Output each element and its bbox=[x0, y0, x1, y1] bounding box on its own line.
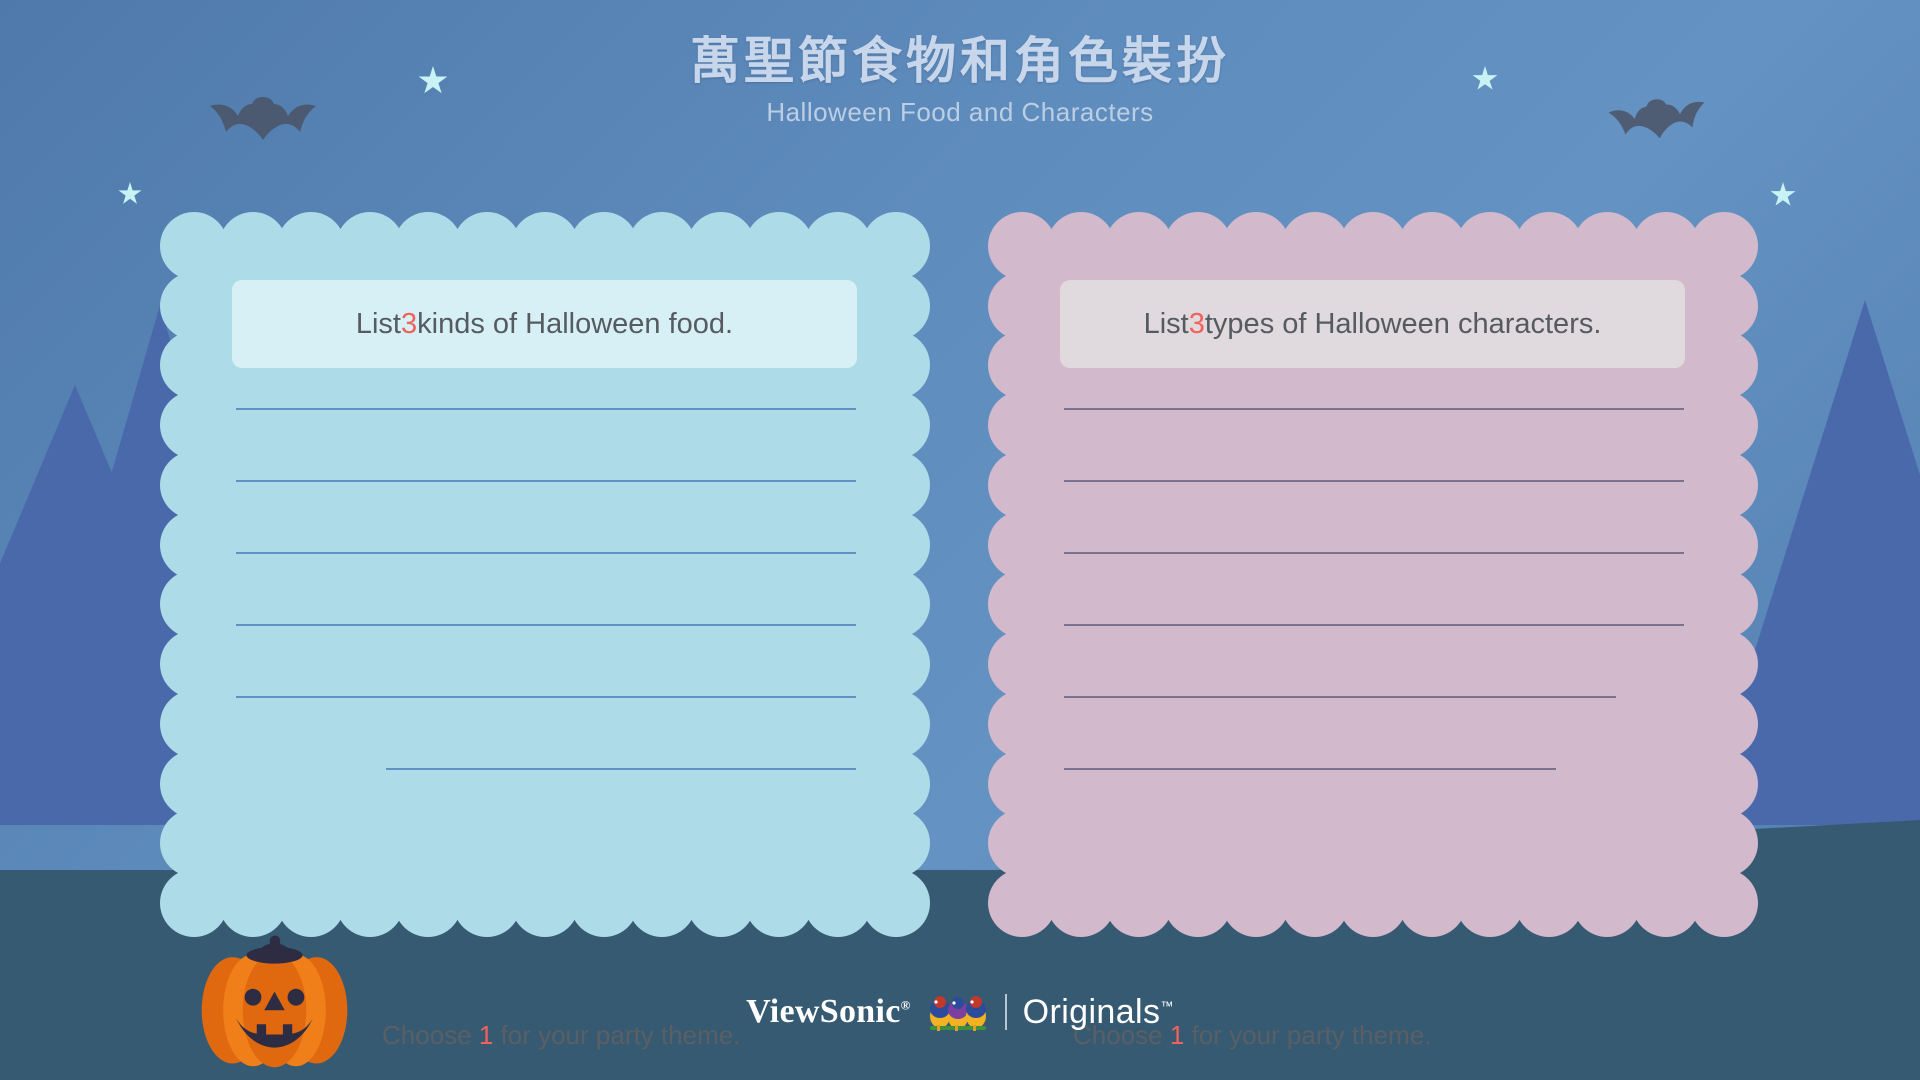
scallop-bump bbox=[277, 869, 345, 937]
scallop-bump bbox=[628, 212, 696, 280]
scallop-bump bbox=[1690, 809, 1758, 877]
scallop-bump bbox=[1690, 391, 1758, 459]
scallop-bump bbox=[1339, 212, 1407, 280]
scallop-bump bbox=[988, 272, 1056, 340]
scallop-bump bbox=[394, 212, 462, 280]
scallop-bump bbox=[628, 869, 696, 937]
scallop-bump bbox=[988, 331, 1056, 399]
prompt-prefix: List bbox=[356, 308, 401, 341]
scallop-bump bbox=[745, 212, 813, 280]
worksheet-card-food: List 3 kinds of Halloween food. Choose 1… bbox=[160, 212, 930, 937]
scallop-bump bbox=[1105, 869, 1173, 937]
scallop-bump bbox=[1690, 212, 1758, 280]
scallop-bump bbox=[1456, 869, 1524, 937]
scallop-bump bbox=[745, 869, 813, 937]
scallop-bump bbox=[862, 690, 930, 758]
scallop-bump bbox=[988, 750, 1056, 818]
scallop-bump bbox=[1339, 869, 1407, 937]
scallop-bump bbox=[862, 630, 930, 698]
trademark-mark: ™ bbox=[1160, 998, 1173, 1013]
scallop-bump bbox=[862, 869, 930, 937]
answer-line[interactable] bbox=[236, 480, 856, 482]
scallop-bump bbox=[1105, 212, 1173, 280]
worksheet-canvas: 萬聖節食物和角色裝扮 Halloween Food and Characters… bbox=[0, 0, 1920, 1080]
scallop-bump bbox=[277, 212, 345, 280]
prompt-prefix: List bbox=[1144, 308, 1189, 341]
prompt-number: 3 bbox=[1189, 308, 1205, 341]
scallop-bump bbox=[1690, 869, 1758, 937]
scallop-bump bbox=[394, 869, 462, 937]
page-subtitle-english: Halloween Food and Characters bbox=[0, 97, 1920, 128]
scallop-bump bbox=[862, 809, 930, 877]
scallop-bump bbox=[1222, 869, 1290, 937]
scallop-bump bbox=[1690, 570, 1758, 638]
scallop-bump bbox=[1690, 451, 1758, 519]
viewsonic-text: ViewSonic bbox=[746, 993, 900, 1030]
prompt-box-food: List 3 kinds of Halloween food. bbox=[232, 280, 857, 368]
scallop-bump bbox=[862, 212, 930, 280]
scallop-bump bbox=[862, 331, 930, 399]
scallop-bump bbox=[862, 750, 930, 818]
answer-line[interactable] bbox=[1064, 408, 1684, 410]
answer-line[interactable] bbox=[236, 624, 856, 626]
scallop-bump bbox=[862, 391, 930, 459]
scallop-bump bbox=[988, 809, 1056, 877]
answer-line[interactable] bbox=[1064, 480, 1684, 482]
scallop-bump bbox=[1690, 272, 1758, 340]
mountain-right-near bbox=[1845, 370, 1920, 825]
scallop-bump bbox=[988, 630, 1056, 698]
scallop-bump bbox=[988, 391, 1056, 459]
scallop-bump bbox=[1690, 511, 1758, 579]
scallop-bump bbox=[160, 869, 228, 937]
logo-divider bbox=[1005, 994, 1007, 1030]
prompt-suffix: types of Halloween characters. bbox=[1205, 308, 1602, 341]
scallop-bump bbox=[862, 272, 930, 340]
scallop-bump bbox=[988, 869, 1056, 937]
scallop-bump bbox=[1573, 212, 1641, 280]
scallop-bump bbox=[1690, 630, 1758, 698]
answer-line[interactable] bbox=[236, 552, 856, 554]
answer-line[interactable] bbox=[1064, 624, 1684, 626]
scallop-bump bbox=[862, 570, 930, 638]
scallop-bump bbox=[988, 511, 1056, 579]
scallop-bump bbox=[988, 690, 1056, 758]
scallop-bump bbox=[988, 451, 1056, 519]
scallop-bump bbox=[1690, 750, 1758, 818]
viewsonic-wordmark: ViewSonic® bbox=[746, 993, 910, 1031]
registered-mark: ® bbox=[901, 998, 911, 1013]
prompt-suffix: kinds of Halloween food. bbox=[417, 308, 733, 341]
viewsonic-finch-logo-icon bbox=[927, 992, 989, 1032]
originals-wordmark: Originals™ bbox=[1023, 993, 1174, 1032]
scallop-bump bbox=[1456, 212, 1524, 280]
scallop-bump bbox=[160, 272, 228, 340]
scallop-bump bbox=[160, 511, 228, 579]
scallop-bump bbox=[1573, 869, 1641, 937]
prompt-box-characters: List 3 types of Halloween characters. bbox=[1060, 280, 1685, 368]
scallop-bump bbox=[1690, 331, 1758, 399]
scallop-bump bbox=[160, 212, 228, 280]
page-header: 萬聖節食物和角色裝扮 Halloween Food and Characters bbox=[0, 30, 1920, 128]
prompt-number: 3 bbox=[401, 308, 417, 341]
scallop-bump bbox=[862, 511, 930, 579]
answer-line[interactable] bbox=[236, 696, 856, 698]
worksheet-card-characters: List 3 types of Halloween characters. Ch… bbox=[988, 212, 1758, 937]
brand-footer: ViewSonic® Originals™ bbox=[0, 992, 1920, 1032]
scallop-bump bbox=[1690, 690, 1758, 758]
scallop-bump bbox=[160, 331, 228, 399]
scallop-bump bbox=[511, 869, 579, 937]
scallop-bump bbox=[1222, 212, 1290, 280]
page-title-chinese: 萬聖節食物和角色裝扮 bbox=[0, 30, 1920, 93]
answer-lines-characters bbox=[1064, 408, 1684, 840]
scallop-bump bbox=[511, 212, 579, 280]
originals-text: Originals bbox=[1023, 993, 1161, 1031]
answer-line[interactable] bbox=[1064, 696, 1616, 698]
scallop-bump bbox=[160, 570, 228, 638]
scallop-bump bbox=[988, 570, 1056, 638]
scallop-bump bbox=[160, 391, 228, 459]
scallop-bump bbox=[988, 212, 1056, 280]
answer-line[interactable] bbox=[236, 408, 856, 410]
answer-lines-food bbox=[236, 408, 856, 840]
scallop-bump bbox=[160, 809, 228, 877]
answer-line[interactable] bbox=[386, 768, 856, 770]
answer-line[interactable] bbox=[1064, 552, 1684, 554]
scallop-bump bbox=[160, 451, 228, 519]
scallop-bump bbox=[160, 630, 228, 698]
scallop-bump bbox=[160, 750, 228, 818]
scallop-bump bbox=[160, 690, 228, 758]
answer-line[interactable] bbox=[1064, 768, 1556, 770]
scallop-bump bbox=[862, 451, 930, 519]
